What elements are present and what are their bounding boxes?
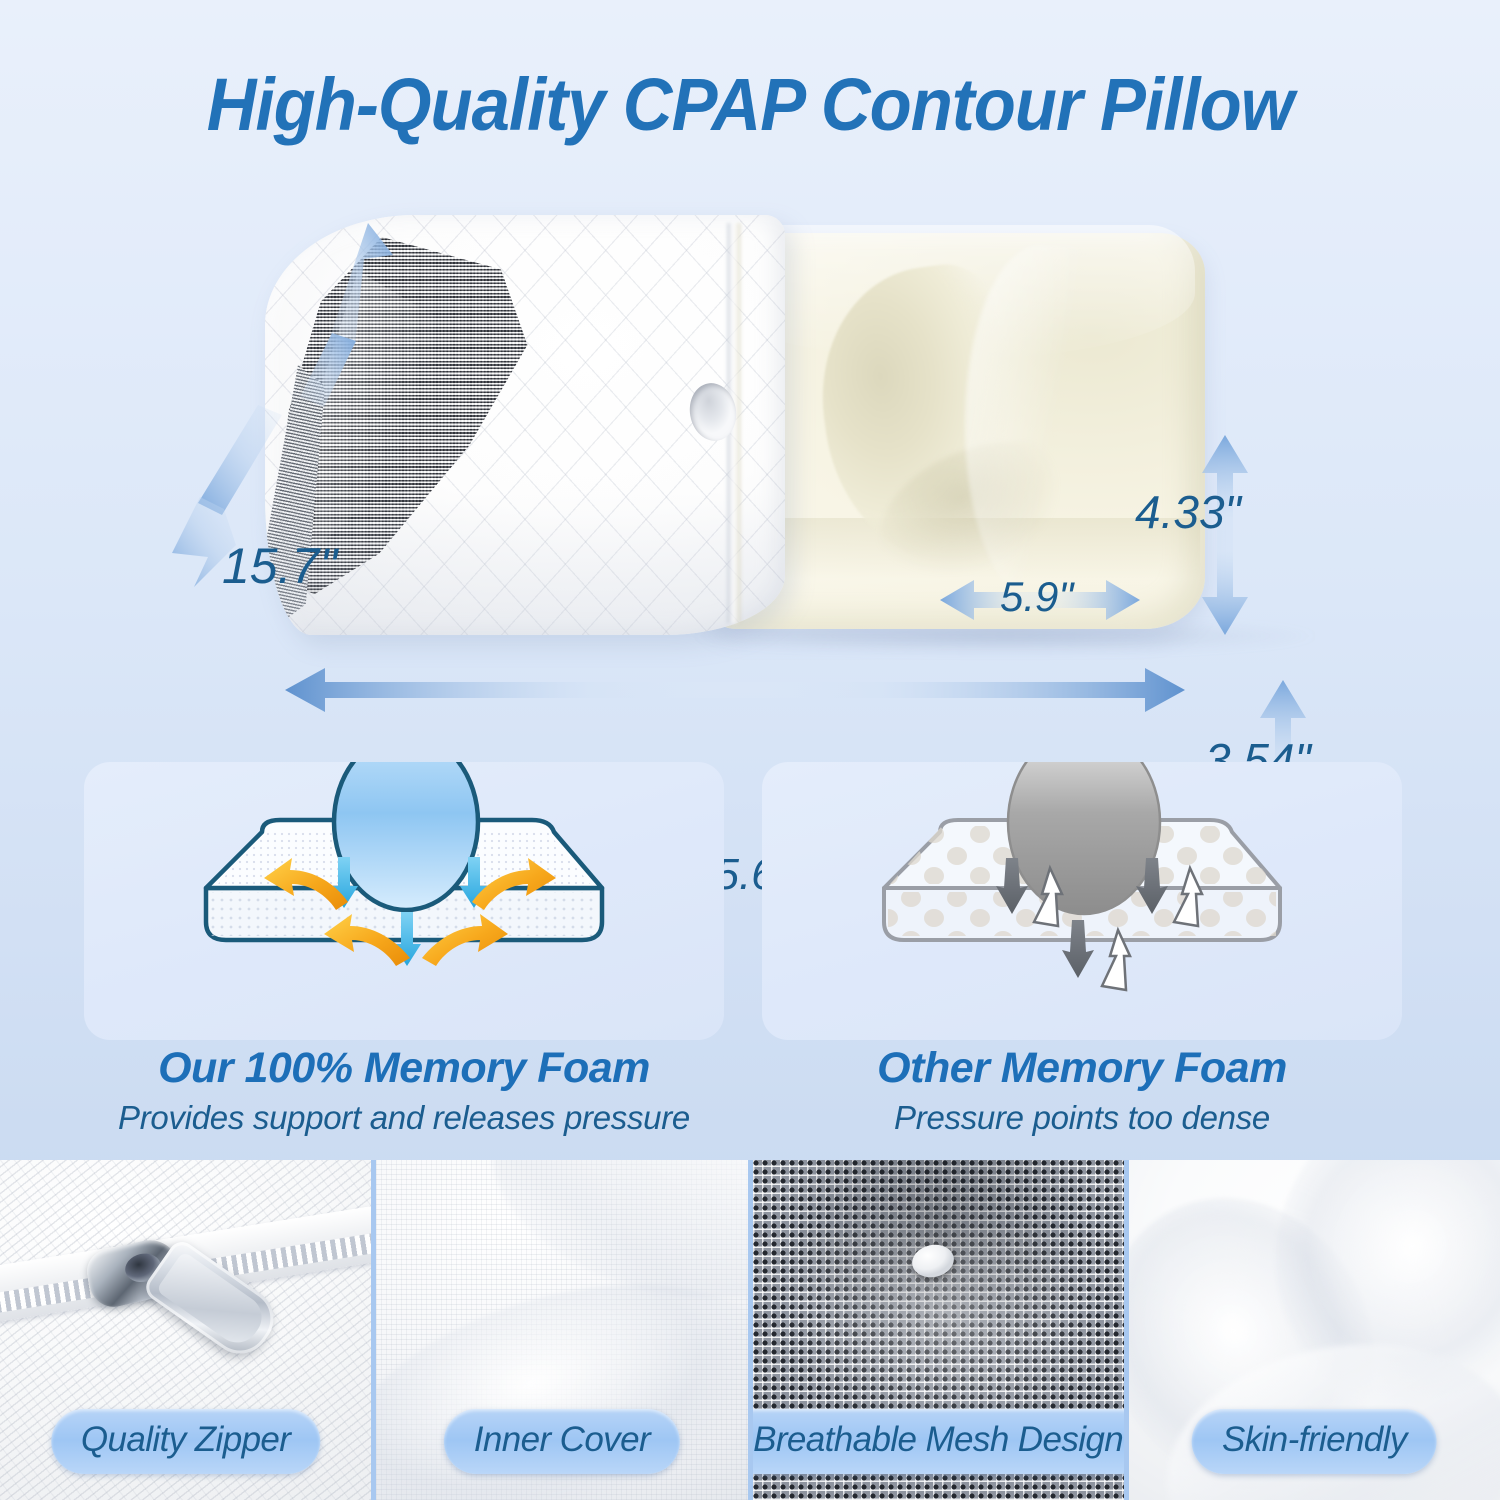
- other-foam-diagram: [762, 762, 1402, 1040]
- photo-inner-cover: Inner Cover: [376, 1160, 747, 1500]
- other-foam-title: Other Memory Foam: [762, 1044, 1402, 1093]
- our-foam-title: Our 100% Memory Foam: [84, 1044, 724, 1093]
- pillow-contour-ridge: [965, 245, 1115, 605]
- our-foam-subtitle: Provides support and releases pressure: [84, 1099, 724, 1137]
- caption-quality-zipper: Quality Zipper: [51, 1409, 320, 1474]
- our-foam-diagram: [84, 762, 724, 1040]
- caption-breathable-mesh: Breathable Mesh Design: [753, 1409, 1124, 1474]
- photo-quality-zipper: Quality Zipper: [0, 1160, 371, 1500]
- page-title: High-Quality CPAP Contour Pillow: [53, 62, 1448, 147]
- other-foam-subtitle: Pressure points too dense: [762, 1099, 1402, 1137]
- comparison-card-our-foam: [84, 762, 724, 1040]
- dimension-label-5-9: 5.9": [1000, 573, 1073, 621]
- caption-inner-cover: Inner Cover: [444, 1409, 680, 1474]
- comparison-card-other-foam: [762, 762, 1402, 1040]
- feature-photo-strip: Quality Zipper Inner Cover Breathable Me…: [0, 1160, 1500, 1500]
- comparison-text-other-foam: Other Memory Foam Pressure points too de…: [762, 1044, 1402, 1137]
- photo-skin-friendly: Skin-friendly: [1129, 1160, 1500, 1500]
- caption-skin-friendly: Skin-friendly: [1192, 1409, 1437, 1474]
- comparison-text-our-foam: Our 100% Memory Foam Provides support an…: [84, 1044, 724, 1137]
- dimension-label-4-33: 4.33": [1135, 485, 1241, 539]
- hero-product-section: 15.7" 4.33" 5.9" 3.54" 25.6": [0, 185, 1500, 745]
- photo-breathable-mesh: Breathable Mesh Design: [753, 1160, 1124, 1500]
- dimension-arrow-25-6-icon: [285, 660, 1185, 720]
- dimension-label-15-7: 15.7": [222, 537, 337, 595]
- foam-comparison-section: Our 100% Memory Foam Provides support an…: [0, 762, 1500, 1162]
